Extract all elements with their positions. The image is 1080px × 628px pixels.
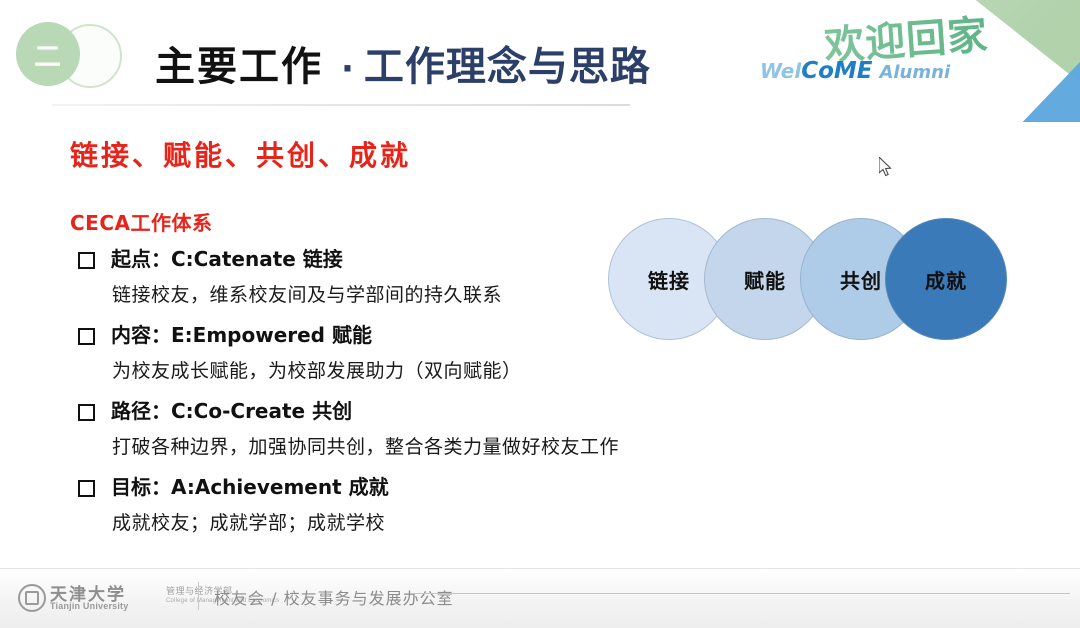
bullet-square-icon: [78, 328, 95, 345]
university-seal-icon: [18, 584, 46, 612]
page-title-sub: 工作理念与思路: [364, 34, 651, 92]
slide-footer: 天津大学 Tianjin University 管理与经济学部 College …: [0, 568, 1080, 628]
bullet-description: 为校友成长赋能，为校部发展助力（双向赋能）: [70, 354, 750, 388]
welcome-logo-come: CoME: [801, 58, 872, 84]
bullet-square-icon: [78, 404, 95, 421]
welcome-home-logo: 欢迎回家 WelCoME Alumni: [760, 6, 1010, 88]
slide-canvas: 二 主要工作 · 工作理念与思路 欢迎回家 WelCoME Alumni 链接、…: [0, 0, 1080, 628]
slide-header: 二 主要工作 · 工作理念与思路 欢迎回家 WelCoME Alumni: [0, 0, 1080, 108]
footer-rule: [410, 593, 1070, 594]
slide-headline: 链接、赋能、共创、成就: [70, 134, 411, 174]
header-divider: [52, 104, 630, 106]
mouse-cursor-icon: [879, 157, 893, 177]
welcome-logo-wel: Wel: [760, 59, 801, 83]
bullet-heading: 起点：C:Catenate 链接: [111, 240, 343, 278]
footer-separator: [198, 582, 199, 610]
footer-office-label: 校友会 / 校友事务与发展办公室: [214, 585, 454, 609]
title-separator-dot: ·: [341, 49, 354, 89]
page-title-main: 主要工作: [155, 34, 323, 92]
footer-top-line: [0, 568, 1080, 569]
section-label-ceca: CECA工作体系: [70, 207, 213, 236]
bullet-heading: 内容：E:Empowered 赋能: [111, 316, 372, 354]
ceca-circles-diagram: 链接 赋能 共创 成就: [600, 218, 1020, 340]
university-name-en: Tianjin University: [50, 601, 128, 611]
bullet-square-icon: [78, 252, 95, 269]
diagram-circle-4: 成就: [885, 218, 1007, 340]
chapter-badge: 二: [16, 22, 144, 86]
list-item: 目标：A:Achievement 成就 成就校友；成就学部；成就学校: [70, 468, 750, 540]
bullet-description: 打破各种边界，加强协同共创，整合各类力量做好校友工作: [70, 430, 750, 464]
bullet-heading-row: 目标：A:Achievement 成就: [70, 468, 750, 506]
welcome-logo-alumni: Alumni: [879, 62, 950, 83]
page-title: 主要工作 · 工作理念与思路: [155, 34, 651, 92]
bullet-heading: 路径：C:Co-Create 共创: [111, 392, 352, 430]
university-logo: 天津大学 Tianjin University 管理与经济学部 College …: [18, 581, 188, 613]
bullet-heading-row: 路径：C:Co-Create 共创: [70, 392, 750, 430]
list-item: 路径：C:Co-Create 共创 打破各种边界，加强协同共创，整合各类力量做好…: [70, 392, 750, 464]
bullet-square-icon: [78, 480, 95, 497]
bullet-heading: 目标：A:Achievement 成就: [111, 468, 389, 506]
bullet-description: 成就校友；成就学部；成就学校: [70, 506, 750, 540]
welcome-logo-english: WelCoME Alumni: [760, 58, 950, 84]
chapter-number: 二: [16, 22, 80, 86]
